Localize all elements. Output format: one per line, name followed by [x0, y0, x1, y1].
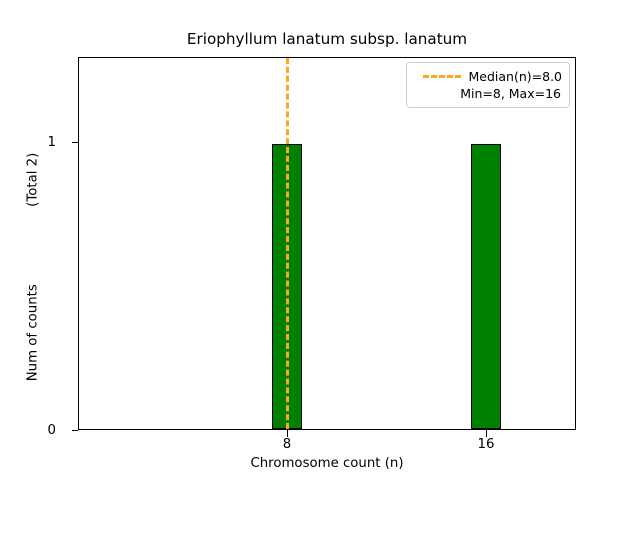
x-tick-label-8: 8 [257, 438, 317, 452]
chart-figure: Eriophyllum lanatum subsp. lanatum Num o… [0, 0, 640, 480]
chart-title: Eriophyllum lanatum subsp. lanatum [78, 30, 576, 48]
y-tick-mark-0 [72, 430, 79, 431]
median-line [286, 58, 289, 429]
x-axis-label: Chromosome count (n) [78, 456, 576, 471]
y-tick-label-1: 1 [48, 136, 56, 149]
y-axis-label-total: (Total 2) [25, 0, 41, 380]
y-tick-label-0: 0 [48, 424, 56, 437]
bar-n16 [471, 144, 501, 429]
y-axis-label: Num of counts [25, 133, 41, 533]
legend-entry-minmax: Min=8, Max=16 [414, 85, 562, 102]
legend-label-minmax: Min=8, Max=16 [460, 87, 561, 101]
x-tick-label-16: 16 [456, 438, 516, 452]
x-tick-mark-16 [486, 430, 487, 437]
plot-area [78, 57, 576, 430]
dashed-line-icon [423, 75, 461, 78]
legend: Median(n)=8.0 Min=8, Max=16 [406, 62, 570, 108]
legend-entry-median: Median(n)=8.0 [414, 68, 562, 85]
legend-label-median: Median(n)=8.0 [469, 70, 563, 84]
x-tick-mark-8 [287, 430, 288, 437]
